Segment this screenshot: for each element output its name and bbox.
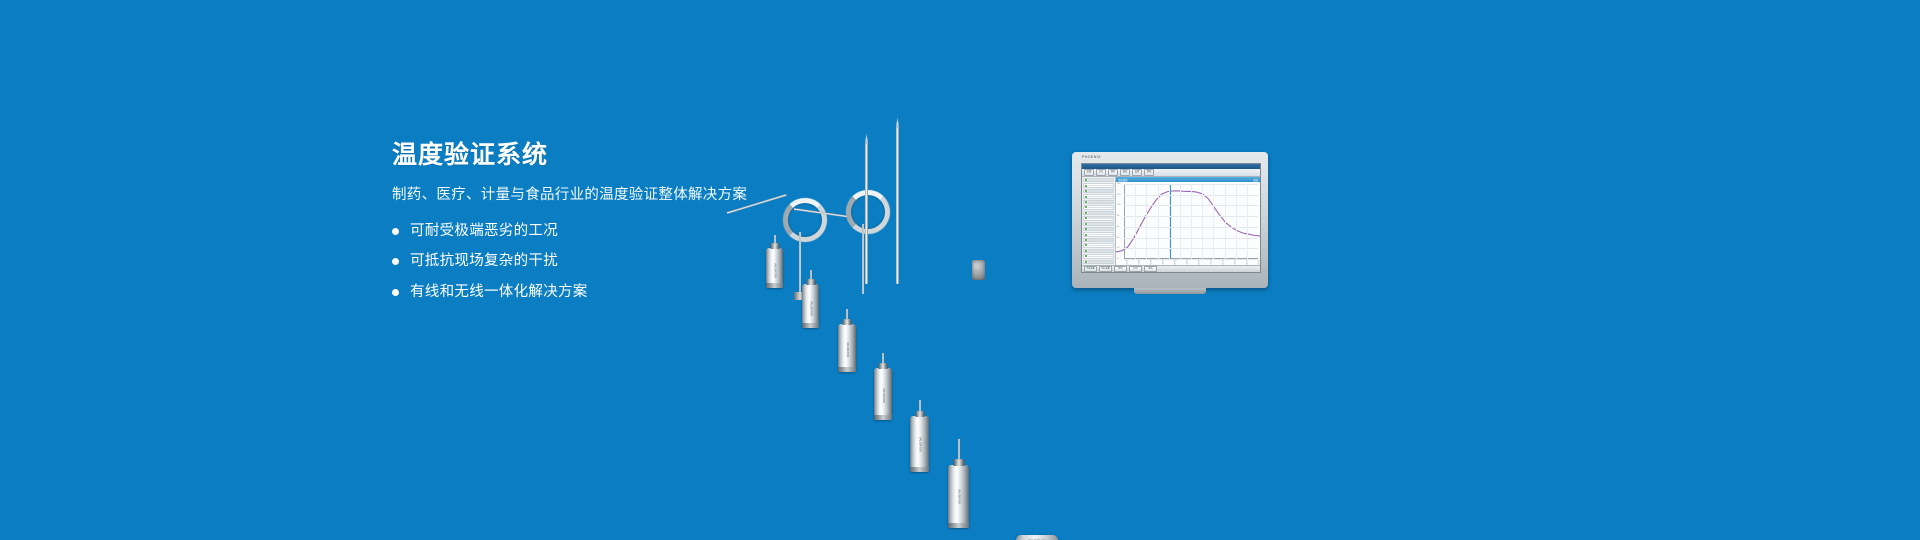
chart-x-tick-label: 01:50 [1256,260,1258,265]
chart-gridline-vertical [1225,184,1226,259]
feature-text: 可耐受极端恶劣的工况 [410,223,558,240]
toolbar-open-button[interactable]: 打开 [1096,169,1106,176]
chart-plot-area: 00:0000:1000:2000:3000:4000:5001:0001:10… [1116,182,1260,265]
chart-x-tick-label: 01:00 [1196,260,1198,265]
chart-title: 温度曲线 [1118,178,1128,182]
sensor-channel-row[interactable] [1083,232,1114,236]
channel-name [1088,261,1113,263]
sensor-channel-row[interactable] [1083,222,1114,226]
sensor-channel-row[interactable] [1083,227,1114,231]
chart-x-tick-label: 01:10 [1208,260,1210,265]
sintered-filter-puck [972,260,985,280]
chart-x-tick-label: 01:30 [1232,260,1234,265]
handheld-reader: PHOENIX NT 27.06 24.18 21.50 F1 F2 F3 OK… [1016,535,1058,540]
chart-gridline-vertical [1213,184,1214,259]
wireless-data-logger-4: VALIDATOR [874,368,892,420]
channel-name [1088,207,1113,209]
toolbar-help-button[interactable]: 帮助 [1144,169,1154,176]
sensor-channel-row[interactable] [1083,216,1114,220]
channel-status-dot-icon [1085,217,1087,219]
channel-status-dot-icon [1085,179,1087,181]
sensor-channel-row[interactable] [1083,183,1114,187]
logger-label: VALIDATOR [773,263,777,278]
chart-x-tick-label: 00:50 [1184,260,1186,265]
sensor-channel-row[interactable] [1083,211,1114,215]
chart-gridline-vertical [1180,184,1181,259]
chart-y-tick-label: 80 [1117,215,1119,217]
chart-x-tick-labels: 00:0000:1000:2000:3000:4000:5001:0001:10… [1124,260,1258,265]
channel-status-dot-icon [1085,201,1087,203]
logger-pin [919,400,921,412]
logger-label: VALIDATOR [957,489,961,504]
export-button[interactable]: 导出 [1114,266,1127,272]
wireless-data-logger-1: VALIDATOR [766,248,783,288]
chart-y-tick-label: 40 [1117,237,1119,239]
chart-gridline-vertical [1169,184,1170,259]
chart-y-tick-label: 20 [1117,247,1119,249]
toolbar-report-button[interactable]: 报表 [1120,169,1130,176]
sensor-channel-row[interactable] [1083,178,1114,182]
channel-name [1088,239,1113,241]
channel-status-dot-icon [1085,190,1087,192]
chart-x-tick-label: 00:20 [1148,260,1150,265]
wireless-data-logger-3: VALIDATOR [838,324,856,372]
chart-y-tick-label: 0 [1117,258,1118,260]
probe-stem [799,232,801,294]
sensor-channel-row[interactable] [1083,200,1114,204]
needle-tip-icon [865,132,868,144]
chart-x-tick-label: 00:00 [1124,260,1126,265]
chart-gridline-vertical [1135,184,1136,259]
channel-name [1088,212,1113,214]
validation-software-window: 新建 打开 保存 报表 设置 帮助 温度曲线 通道 [1081,163,1261,273]
chart-gridline-vertical [1191,184,1192,259]
logger-label: VALIDATOR [809,301,813,316]
chart-gridline-vertical [1146,184,1147,259]
channel-name [1088,256,1113,258]
chart-gridline-vertical [1236,184,1237,259]
bullet-dot-icon [392,258,399,265]
chart-y-tick-label: 120 [1117,194,1120,196]
exit-button[interactable]: 退出 [1144,266,1157,272]
logger-pin [810,270,812,280]
channel-name [1088,223,1113,225]
feature-text: 有线和无线一体化解决方案 [410,284,588,301]
logger-pin [846,309,848,320]
channel-status-dot-icon [1085,206,1087,208]
chart-gridline-vertical [1247,184,1248,259]
channel-status-dot-icon [1085,212,1087,214]
logger-label: VALIDATOR [845,342,849,357]
wireless-data-logger-2: VALIDATOR [802,284,819,328]
start-acquisition-button[interactable]: 开始采集 [1084,266,1097,272]
monitor-brand-label: PHOENIX [1082,155,1101,159]
chart-gridline [1124,259,1258,260]
needle-probe-long [865,142,868,284]
sensor-channel-row[interactable] [1083,249,1114,253]
toolbar-settings-button[interactable]: 设置 [1132,169,1142,176]
probe-coil [783,198,827,242]
channel-name [1088,234,1113,236]
channel-status-dot-icon [1085,261,1087,263]
software-toolbar[interactable]: 新建 打开 保存 报表 设置 帮助 [1082,169,1260,177]
channel-name [1088,245,1113,247]
channel-name [1088,250,1113,252]
logger-label: VALIDATOR [918,437,922,452]
print-button[interactable]: 打印 [1129,266,1142,272]
chart-x-tick-label: 00:30 [1160,260,1162,265]
software-statusbar[interactable]: 开始采集 停止采集 导出 打印 退出 [1082,265,1260,272]
temperature-chart-panel: 温度曲线 通道 00:0000:1000:2000:3000:4000:5001… [1116,177,1260,265]
logger-label: VALIDATOR [881,388,885,403]
toolbar-new-button[interactable]: 新建 [1084,169,1094,176]
wireless-data-logger-large: VALIDATOR [948,465,969,528]
channel-status-dot-icon [1085,234,1087,236]
wireless-data-logger-5: VALIDATOR [910,416,929,472]
channel-status-dot-icon [1085,244,1087,246]
sensor-channel-row[interactable] [1083,243,1114,247]
bullet-dot-icon [392,228,399,235]
bullet-dot-icon [392,289,399,296]
sensor-channel-row[interactable] [1083,205,1114,209]
sensor-channel-list[interactable] [1082,177,1116,265]
channel-status-dot-icon [1085,239,1087,241]
needle-tip-icon [896,116,899,128]
chart-x-tick-label: 01:40 [1244,260,1246,265]
chart-y-tick-label: 100 [1117,204,1120,206]
channel-name [1088,185,1113,187]
chart-x-tick-label: 01:20 [1220,260,1222,265]
monitor-stand [1134,288,1206,294]
channel-name [1088,179,1113,181]
sensor-channel-row[interactable] [1083,254,1114,258]
chart-gridline-vertical [1158,184,1159,259]
channel-name [1088,201,1113,203]
feature-text: 可抵抗现场复杂的干扰 [410,253,558,270]
channel-name [1088,190,1113,192]
channel-status-dot-icon [1085,255,1087,257]
channel-status-dot-icon [1085,185,1087,187]
logger-pin [882,353,884,364]
needle-probe-extra-long [896,126,899,284]
chart-y-tick-label: 60 [1117,226,1119,228]
logger-cap [953,459,964,466]
product-montage: VALIDATOR VALIDATOR VALIDATOR VALIDATOR … [720,120,1220,320]
chart-legend-label: 通道 [1253,178,1258,182]
channel-name [1088,217,1113,219]
channel-name [1088,196,1113,198]
channel-status-dot-icon [1085,223,1087,225]
channel-status-dot-icon [1085,196,1087,198]
probe-lead [727,194,787,214]
logger-pin [774,235,776,244]
software-body: 温度曲线 通道 00:0000:1000:2000:3000:4000:5001… [1082,177,1260,265]
sensor-channel-row[interactable] [1083,260,1114,264]
sensor-channel-row[interactable] [1083,238,1114,242]
channel-status-dot-icon [1085,250,1087,252]
logger-antenna [958,439,960,460]
toolbar-save-button[interactable]: 保存 [1108,169,1118,176]
chart-x-tick-label: 00:10 [1136,260,1138,265]
chart-x-tick-label: 00:40 [1172,260,1174,265]
stop-acquisition-button[interactable]: 停止采集 [1099,266,1112,272]
panel-monitor: PHOENIX 新建 打开 保存 报表 设置 帮助 温度曲线 [1072,152,1268,288]
chart-gridline-vertical [1202,184,1203,259]
probe-coil [846,190,890,234]
channel-status-dot-icon [1085,228,1087,230]
sensor-channel-row[interactable] [1083,189,1114,193]
probe-stem [862,224,864,294]
sensor-channel-row[interactable] [1083,194,1114,198]
chart-y-tick-label: 140 [1117,183,1120,185]
channel-name [1088,228,1113,230]
product-banner: 温度验证系统 制药、医疗、计量与食品行业的温度验证整体解决方案 可耐受极端恶劣的… [0,0,1920,540]
